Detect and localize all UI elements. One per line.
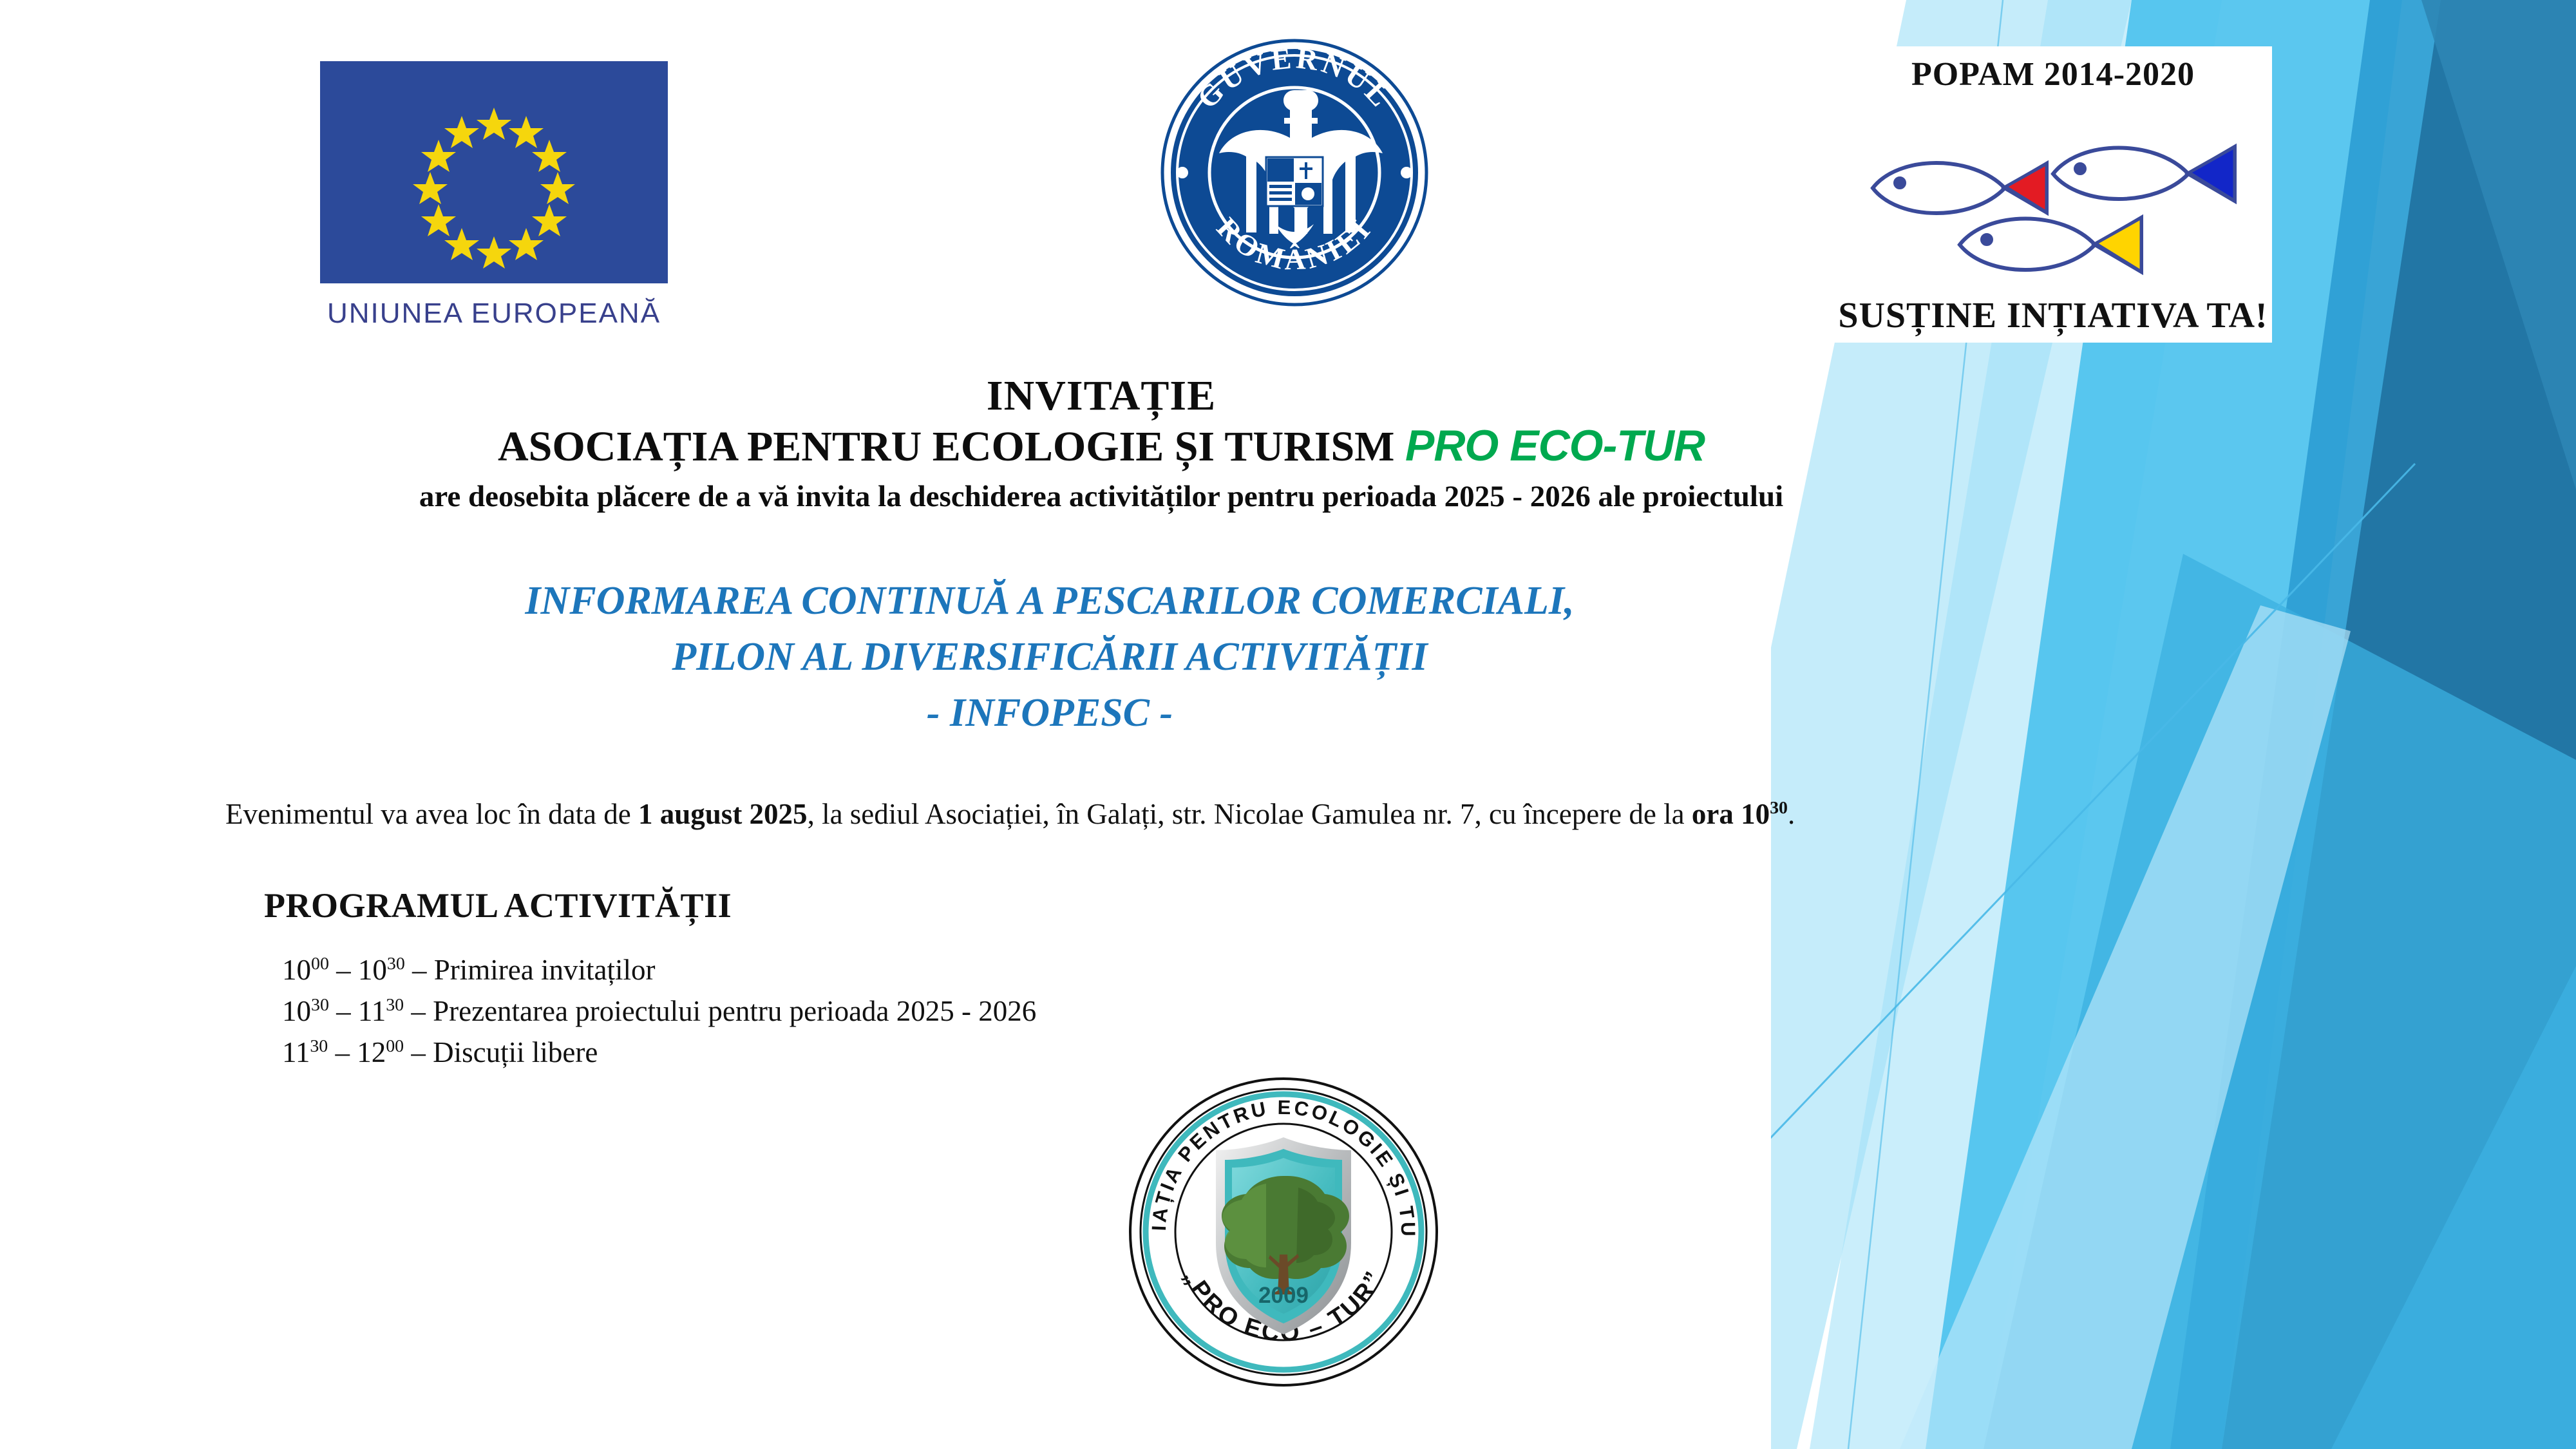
event-date: 1 august 2025 xyxy=(638,798,808,830)
program-item: 1130 – 1200 – Discuții libere xyxy=(282,1032,1036,1074)
program-end-hour: 10 xyxy=(358,954,387,986)
event-prefix: Evenimentul va avea loc în data de xyxy=(225,798,638,830)
program-title: PROGRAMUL ACTIVITĂȚII xyxy=(264,885,732,925)
program-end-min: 30 xyxy=(387,954,405,974)
eu-flag-icon xyxy=(320,61,668,283)
project-title-line1: INFORMAREA CONTINUĂ A PESCARILOR COMERCI… xyxy=(0,573,2099,629)
eu-label: UNIUNEA EUROPEANĂ xyxy=(320,298,668,330)
program-item-text: – Prezentarea proiectului pentru perioad… xyxy=(404,995,1036,1027)
program-start-min: 30 xyxy=(311,995,329,1015)
program-item-text: – Discuții libere xyxy=(404,1036,598,1068)
program-item: 1000 – 1030 – Primirea invitaților xyxy=(282,950,1036,991)
pro-eco-tur-logo: ASOCIAȚIA PENTRU ECOLOGIE ȘI TURISM „PRO… xyxy=(1126,1074,1441,1390)
popam-slogan: SUSȚINE INȚIATIVA TA! xyxy=(1838,295,2268,336)
program-end-min: 00 xyxy=(386,1036,404,1056)
program-start-hour: 11 xyxy=(282,1036,310,1068)
program-start-min: 00 xyxy=(311,954,329,974)
association-heading: ASOCIAȚIA PENTRU ECOLOGIE ȘI TURISM PRO … xyxy=(0,419,2202,473)
popam-logo: POPAM 2014-2020 xyxy=(1834,46,2272,343)
popam-title: POPAM 2014-2020 xyxy=(1911,55,2195,93)
program-list: 1000 – 1030 – Primirea invitaților 1030 … xyxy=(282,950,1036,1074)
program-end-hour: 12 xyxy=(357,1036,386,1068)
european-union-logo: UNIUNEA EUROPEANĂ xyxy=(320,61,668,348)
event-time-minutes: 30 xyxy=(1770,798,1788,818)
project-title-line3: - INFOPESC - xyxy=(0,685,2099,741)
program-start-min: 30 xyxy=(310,1036,328,1056)
logo-row: UNIUNEA EUROPEANĂ GUVERNUL xyxy=(0,0,2576,361)
event-time: ora 10 xyxy=(1692,798,1770,830)
program-start-hour: 10 xyxy=(282,995,311,1027)
heading-subtitle: are deosebita plăcere de a vă invita la … xyxy=(0,477,2202,516)
program-item: 1030 – 1130 – Prezentarea proiectului pe… xyxy=(282,991,1036,1032)
brand-name: PRO ECO-TUR xyxy=(1405,421,1705,470)
guvernul-romaniei-seal: GUVERNUL ROMÂNIEI xyxy=(1153,31,1436,314)
invitation-slide: UNIUNEA EUROPEANĂ GUVERNUL xyxy=(0,0,2576,1449)
popam-fish-icon xyxy=(1853,104,2253,285)
event-details: Evenimentul va avea loc în data de 1 aug… xyxy=(225,797,2363,831)
association-heading-prefix: ASOCIAȚIA PENTRU ECOLOGIE ȘI TURISM xyxy=(498,423,1405,470)
program-end-min: 30 xyxy=(386,995,404,1015)
project-title-line2: PILON AL DIVERSIFICĂRII ACTIVITĂȚII xyxy=(0,629,2099,685)
event-suffix: . xyxy=(1788,798,1795,830)
project-title: INFORMAREA CONTINUĂ A PESCARILOR COMERCI… xyxy=(0,573,2099,741)
program-end-hour: 11 xyxy=(358,995,386,1027)
logo-year: 2009 xyxy=(1258,1283,1309,1308)
program-item-text: – Primirea invitaților xyxy=(405,954,656,986)
event-middle: , la sediul Asociației, în Galați, str. … xyxy=(808,798,1692,830)
page-title: INVITAȚIE xyxy=(0,374,2202,419)
heading-block: INVITAȚIE ASOCIAȚIA PENTRU ECOLOGIE ȘI T… xyxy=(0,374,2202,516)
program-start-hour: 10 xyxy=(282,954,311,986)
